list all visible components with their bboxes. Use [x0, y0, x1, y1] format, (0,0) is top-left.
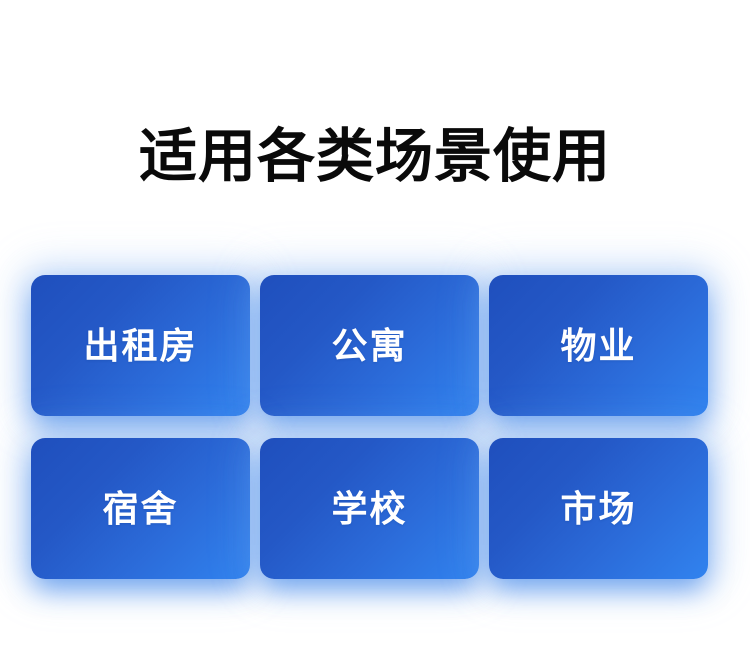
scene-card-label: 宿舍	[102, 488, 178, 530]
page-title: 适用各类场景使用	[0, 122, 750, 192]
scene-card-school[interactable]: 学校	[260, 438, 479, 579]
scene-card-market[interactable]: 市场	[489, 438, 708, 579]
scene-card-grid: 出租房 公寓 物业 宿舍 学校 市场	[31, 275, 709, 579]
scene-card-rental-house[interactable]: 出租房	[31, 275, 250, 416]
scene-card-apartment[interactable]: 公寓	[260, 275, 479, 416]
scene-showcase-page: 适用各类场景使用 出租房 公寓 物业 宿舍 学校 市场	[0, 0, 750, 649]
scene-card-property[interactable]: 物业	[489, 275, 708, 416]
scene-card-label: 公寓	[331, 325, 407, 367]
scene-card-label: 物业	[560, 325, 636, 367]
scene-card-label: 市场	[560, 488, 636, 530]
scene-card-label: 出租房	[83, 325, 197, 367]
scene-card-label: 学校	[331, 488, 407, 530]
scene-card-dormitory[interactable]: 宿舍	[31, 438, 250, 579]
